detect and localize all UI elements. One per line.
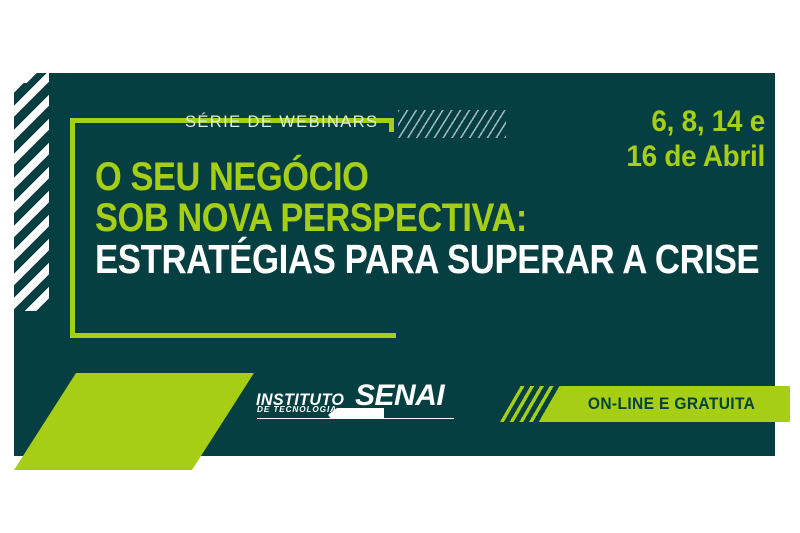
left-diagonal-stripes-decoration: [14, 73, 49, 311]
headline-line-3: ESTRATÉGIAS PARA SUPERAR A CRISE: [95, 240, 759, 279]
logo-tagline-text: DE TECNOLOGIA: [257, 405, 337, 414]
green-frame-bottom-line: [70, 333, 396, 338]
headline-line-2: SOB NOVA PERSPECTIVA:: [95, 199, 759, 238]
online-free-badge: ON-LINE E GRATUITA: [540, 386, 790, 422]
headline-block: O SEU NEGÓCIO SOB NOVA PERSPECTIVA: ESTR…: [95, 158, 800, 281]
hatch-lines-decoration: [398, 110, 506, 138]
instituto-senai-logo: INSTITUTO SENAI DE TECNOLOGIA: [256, 382, 456, 428]
eyebrow-label: SÉRIE DE WEBINARS: [185, 113, 378, 132]
promo-banner-canvas: SÉRIE DE WEBINARS 6, 8, 14 e 16 de Abril…: [0, 0, 800, 533]
event-dates-line-1: 6, 8, 14 e: [626, 104, 765, 139]
green-frame-left-line: [70, 118, 75, 338]
logo-senai-text: SENAI: [355, 382, 444, 410]
left-stripes-corner-cut: [14, 73, 49, 83]
headline-line-1: O SEU NEGÓCIO: [95, 158, 759, 197]
online-free-badge-label: ON-LINE E GRATUITA: [575, 395, 755, 414]
green-frame-top-tip: [389, 118, 394, 132]
logo-underline-rule: [257, 418, 454, 419]
